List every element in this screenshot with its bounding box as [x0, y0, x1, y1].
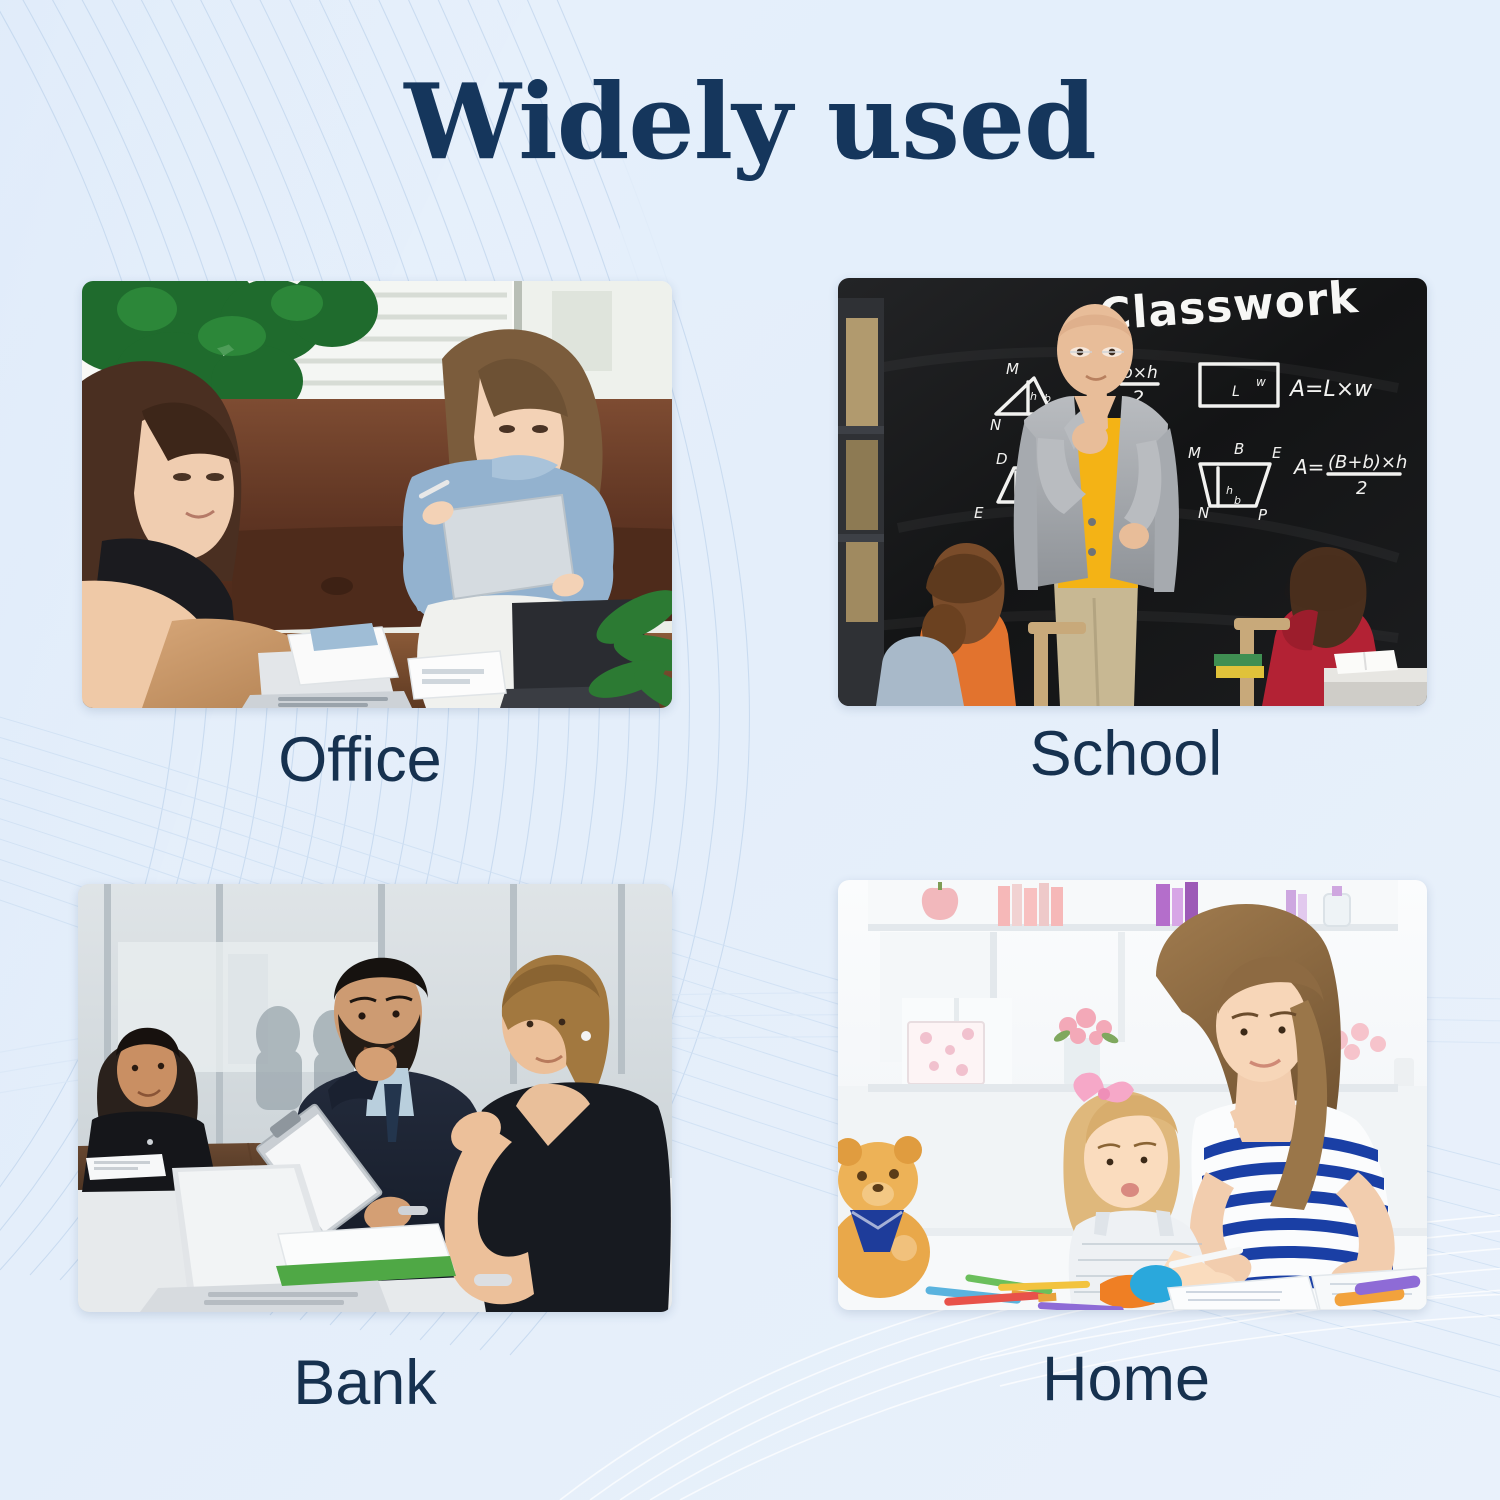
usage-scenario-office — [82, 281, 672, 708]
svg-text:(B+b)×h: (B+b)×h — [1328, 452, 1407, 473]
bank-photo — [78, 884, 672, 1312]
svg-text:2: 2 — [1356, 478, 1367, 499]
svg-text:M: M — [1188, 444, 1201, 462]
widely-used-section: Widely used — [0, 0, 1500, 1500]
svg-text:A=: A= — [1292, 455, 1324, 479]
caption-home: Home — [790, 1348, 1462, 1411]
caption-school: School — [790, 723, 1462, 786]
svg-text:D: D — [996, 450, 1008, 468]
svg-text:P: P — [1258, 506, 1268, 524]
page-title: Widely used — [0, 66, 1500, 178]
school-photo: M N h b D E h = b×h 2 L w A=L×w M B E N — [838, 278, 1427, 706]
svg-text:N: N — [1198, 504, 1209, 522]
svg-text:M: M — [1006, 360, 1019, 378]
svg-text:h: h — [1030, 390, 1037, 403]
svg-text:E: E — [974, 504, 984, 522]
svg-text:b: b — [1234, 494, 1241, 507]
caption-bank: Bank — [0, 1352, 730, 1415]
svg-text:w: w — [1256, 375, 1266, 389]
svg-text:h: h — [1226, 484, 1233, 497]
svg-text:E: E — [1272, 444, 1282, 462]
home-photo — [838, 880, 1427, 1310]
usage-scenario-bank — [78, 884, 672, 1312]
svg-text:N: N — [990, 416, 1001, 434]
usage-scenario-home — [838, 880, 1427, 1310]
svg-text:A=L×w: A=L×w — [1288, 377, 1373, 402]
office-photo — [82, 281, 672, 708]
caption-office: Office — [0, 729, 720, 792]
svg-text:L: L — [1232, 384, 1240, 400]
usage-scenario-school: M N h b D E h = b×h 2 L w A=L×w M B E N — [838, 278, 1427, 706]
svg-text:B: B — [1234, 440, 1244, 458]
